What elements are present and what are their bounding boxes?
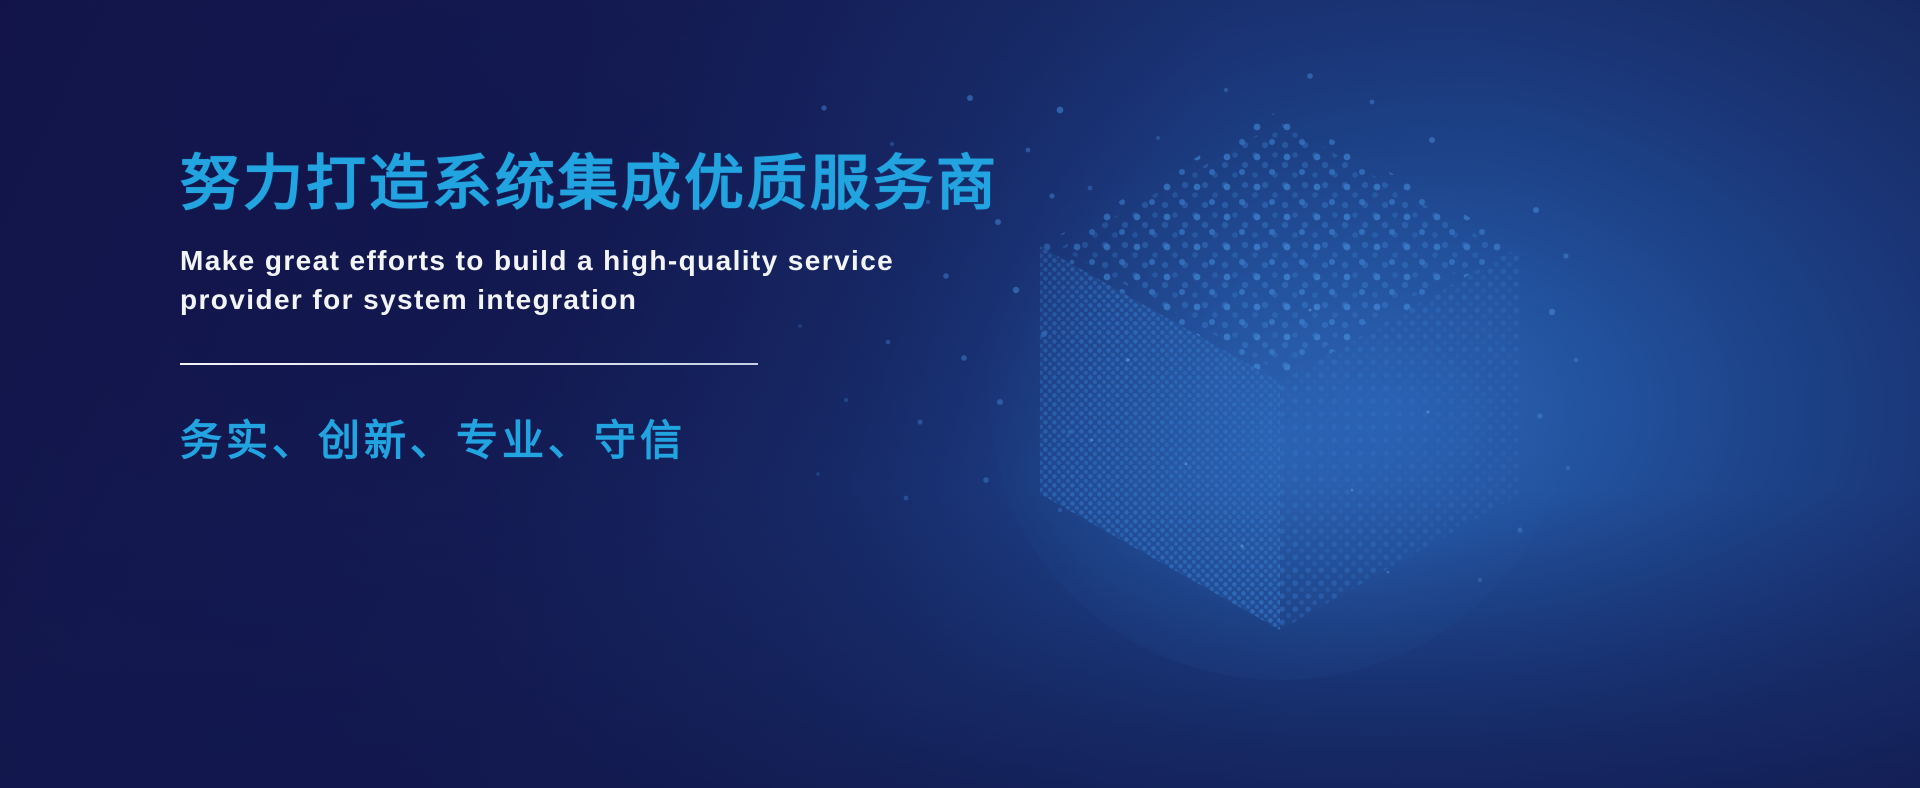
slogan-chinese: 务实、创新、专业、守信: [180, 407, 1080, 468]
divider-rule: [180, 363, 758, 365]
hero-banner: 努力打造系统集成优质服务商 Make great efforts to buil…: [0, 0, 1920, 788]
subtitle-line-1: Make great efforts to build a high-quali…: [180, 245, 894, 276]
subtitle-line-2: provider for system integration: [180, 284, 637, 315]
hero-content: 努力打造系统集成优质服务商 Make great efforts to buil…: [180, 150, 1080, 468]
subtitle-english: Make great efforts to build a high-quali…: [180, 242, 1050, 319]
headline-chinese: 努力打造系统集成优质服务商: [180, 150, 1080, 217]
